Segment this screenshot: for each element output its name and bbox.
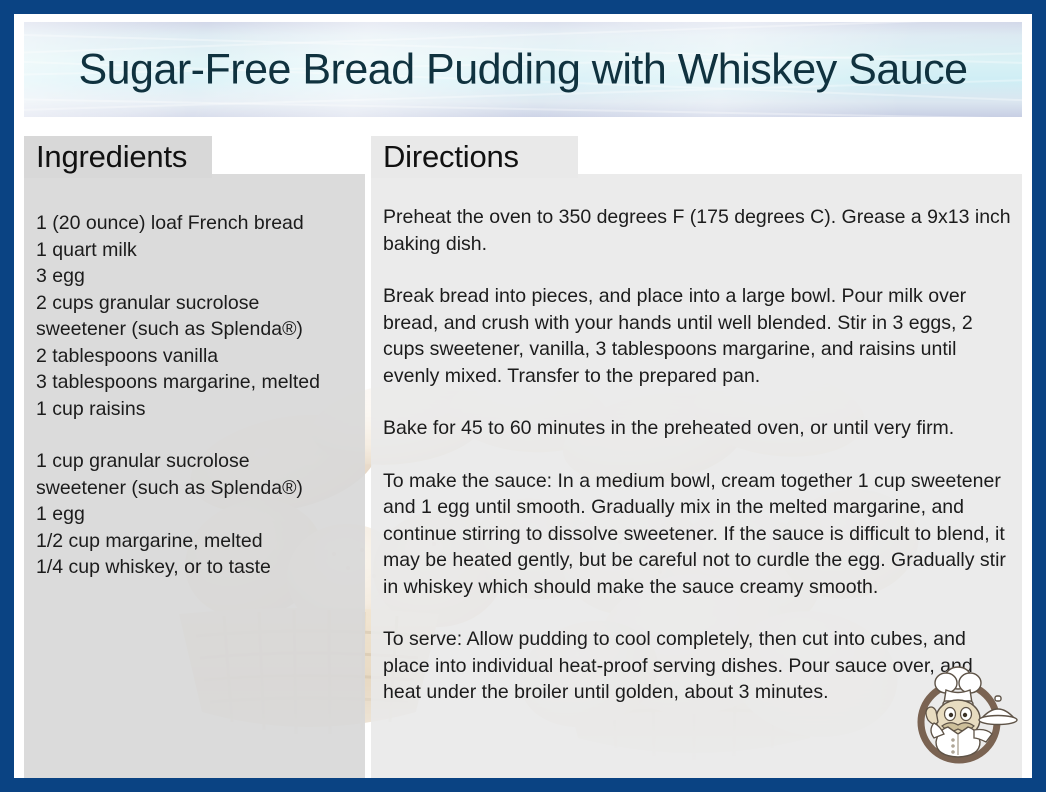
list-item: 1/4 cup whiskey, or to taste (36, 554, 361, 581)
direction-step: To make the sauce: In a medium bowl, cre… (383, 468, 1015, 601)
list-item: 1 cup granular sucrolose (36, 448, 361, 475)
page-title: Sugar-Free Bread Pudding with Whiskey Sa… (24, 45, 1022, 94)
chef-mascot-logo (894, 656, 1024, 766)
list-item: 1/2 cup margarine, melted (36, 528, 361, 555)
list-item: 2 cups granular sucrolose (36, 290, 361, 317)
recipe-page: Sugar-Free Bread Pudding with Whiskey Sa… (14, 14, 1032, 778)
ingredients-group-separator (36, 422, 361, 448)
ingredients-panel: 1 (20 ounce) loaf French bread 1 quart m… (24, 174, 365, 778)
list-item: 3 tablespoons margarine, melted (36, 369, 361, 396)
list-item: 3 egg (36, 263, 361, 290)
recipe-card: Sugar-Free Bread Pudding with Whiskey Sa… (0, 0, 1046, 792)
direction-step: Bake for 45 to 60 minutes in the preheat… (383, 415, 1015, 442)
list-item: sweetener (such as Splenda®) (36, 316, 361, 343)
list-item: sweetener (such as Splenda®) (36, 475, 361, 502)
list-item: 2 tablespoons vanilla (36, 343, 361, 370)
title-banner: Sugar-Free Bread Pudding with Whiskey Sa… (24, 22, 1022, 117)
list-item: 1 cup raisins (36, 396, 361, 423)
direction-step: Break bread into pieces, and place into … (383, 283, 1015, 389)
directions-list: Preheat the oven to 350 degrees F (175 d… (383, 204, 1015, 732)
list-item: 1 quart milk (36, 237, 361, 264)
list-item: 1 egg (36, 501, 361, 528)
directions-heading: Directions (371, 136, 578, 178)
list-item: 1 (20 ounce) loaf French bread (36, 210, 361, 237)
ingredients-list: 1 (20 ounce) loaf French bread 1 quart m… (36, 210, 361, 581)
direction-step: Preheat the oven to 350 degrees F (175 d… (383, 204, 1015, 257)
ingredients-heading: Ingredients (24, 136, 212, 178)
